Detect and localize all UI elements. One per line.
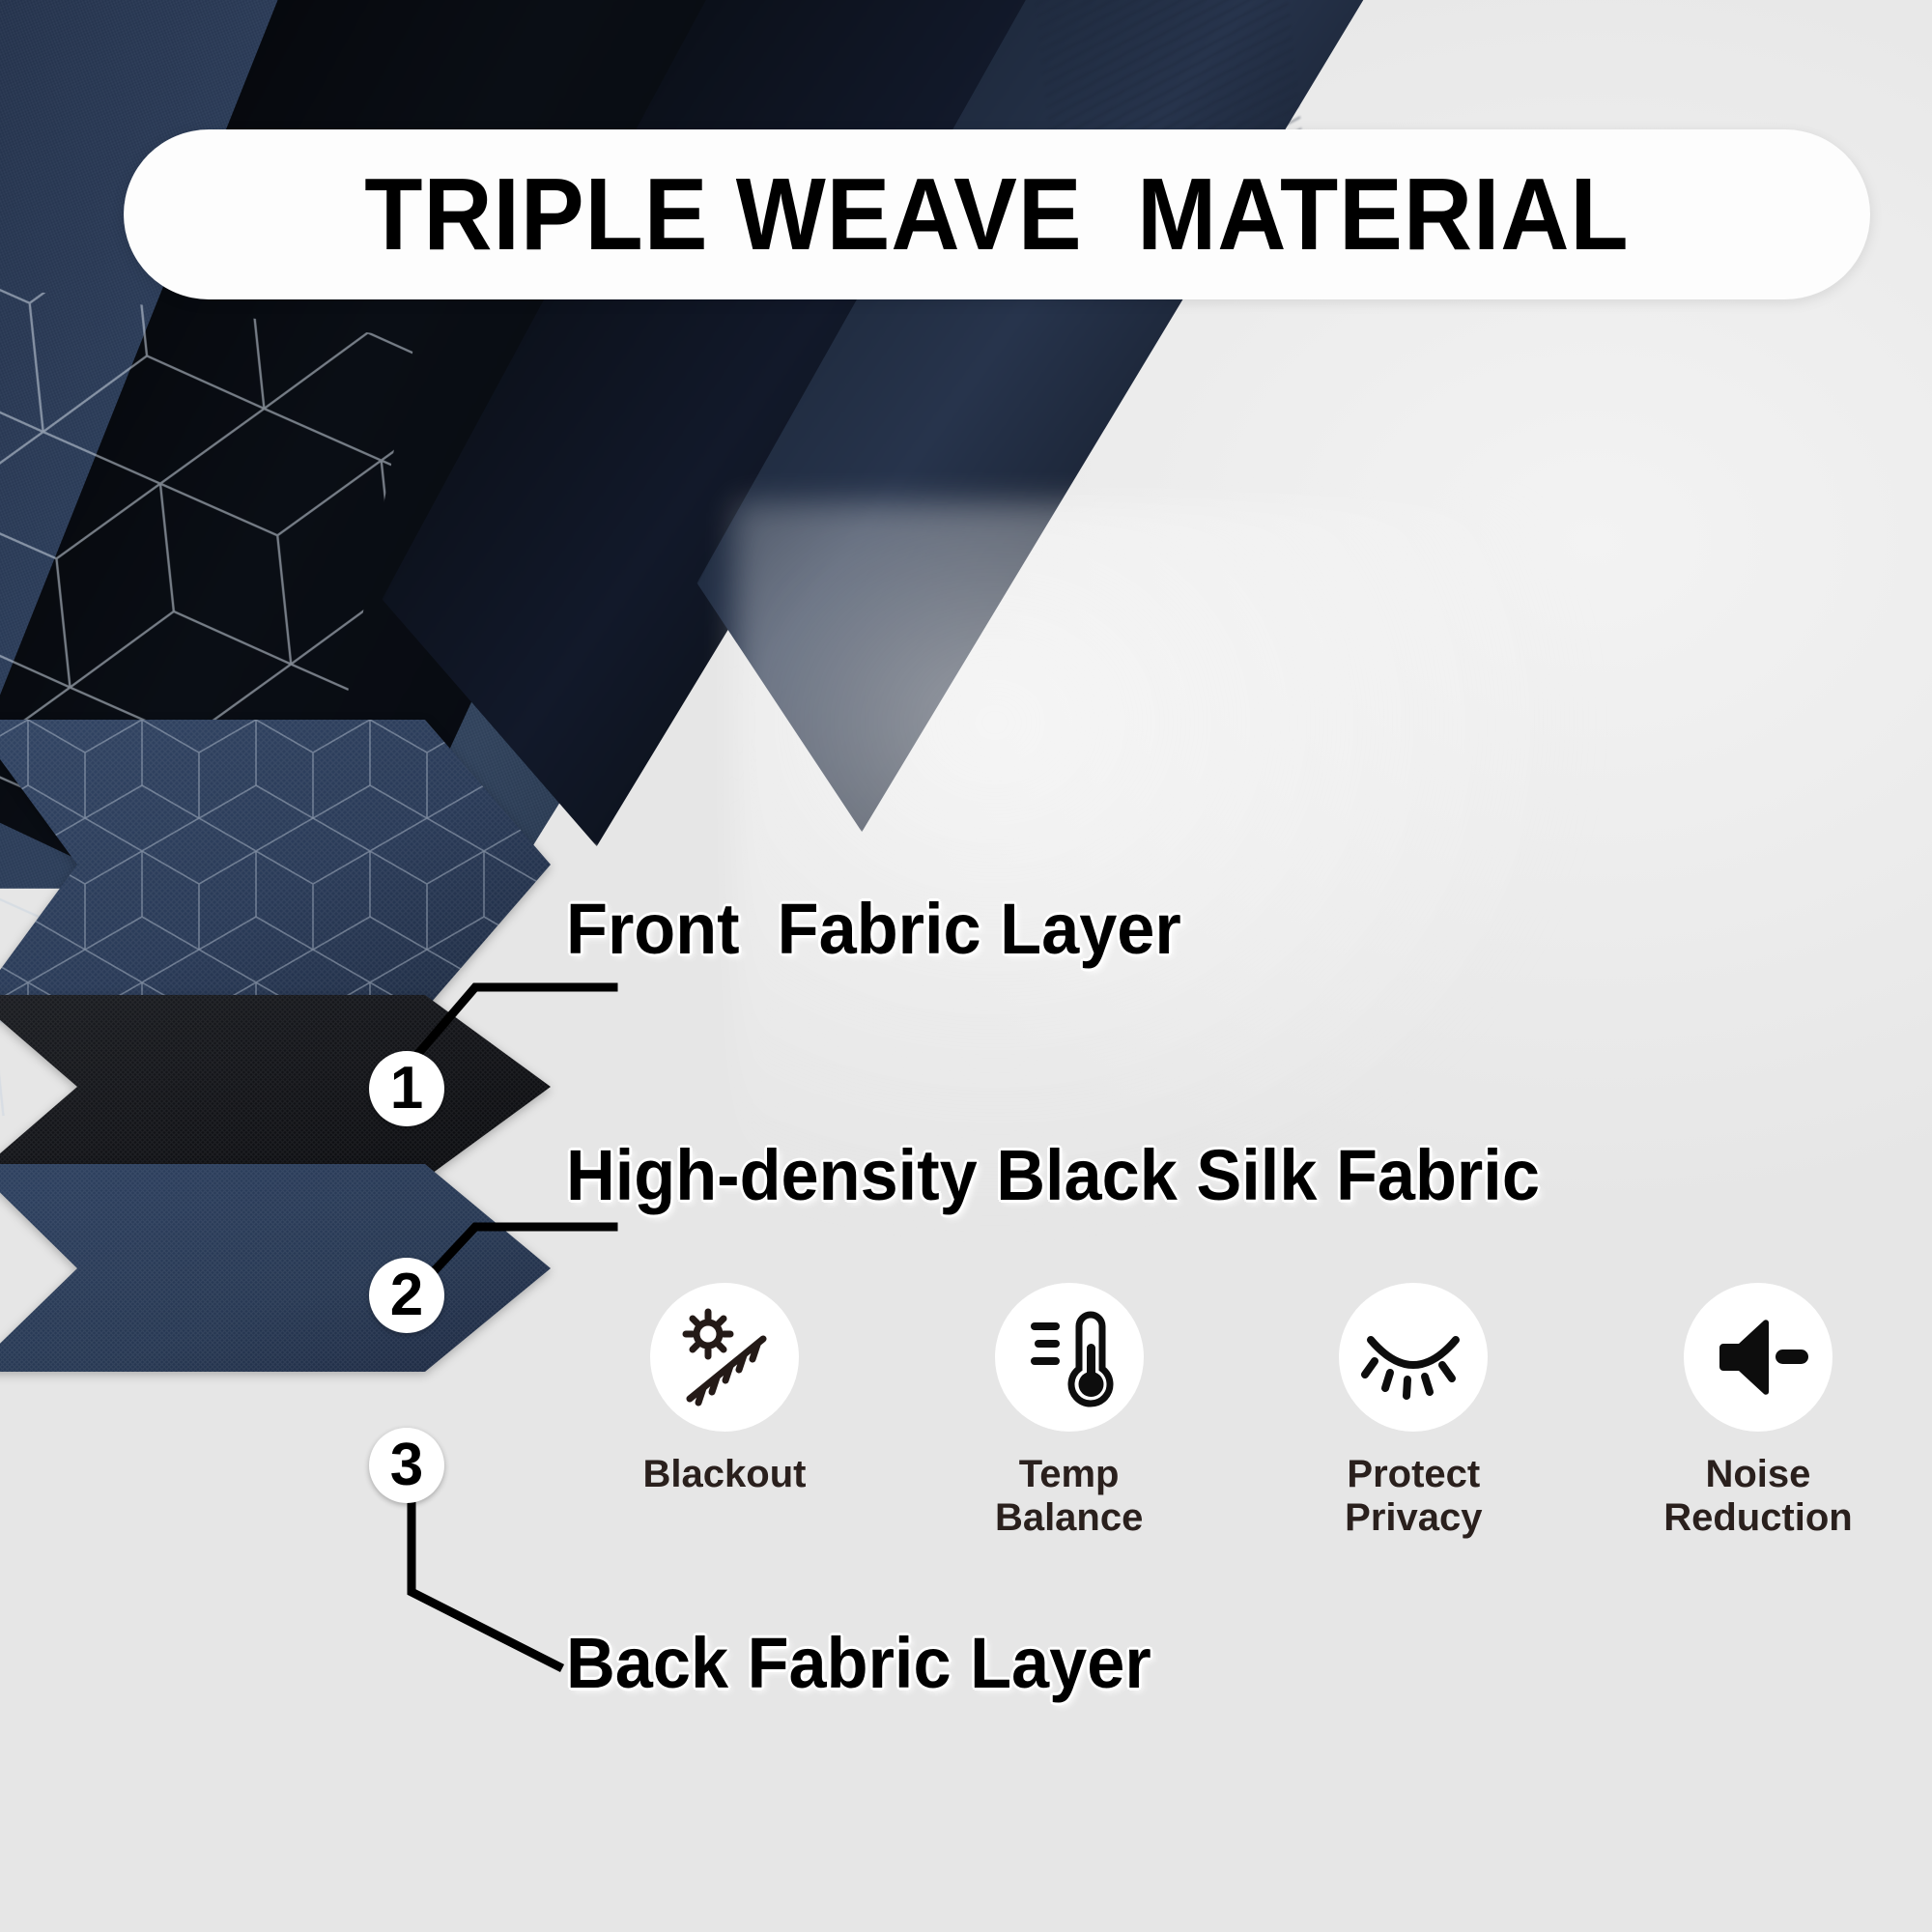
- layer-badge-3-number: 3: [390, 1435, 423, 1495]
- feature-temp-balance-label: Temp Balance: [995, 1453, 1143, 1540]
- feature-noise-reduction-label: Noise Reduction: [1663, 1453, 1853, 1540]
- layer-label-front-fabric: Front Fabric Layer: [566, 894, 1181, 965]
- feature-protect-privacy-label: Protect Privacy: [1345, 1453, 1482, 1540]
- sun-blocked-icon: [650, 1283, 799, 1432]
- fabric-ply-1-front: [0, 720, 570, 1009]
- layer-label-back-fabric: Back Fabric Layer: [566, 1628, 1151, 1699]
- feature-blackout: Blackout: [580, 1283, 869, 1496]
- closed-eye-icon: [1339, 1283, 1488, 1432]
- feature-protect-privacy: Protect Privacy: [1268, 1283, 1558, 1540]
- fabric-ply-3-back: [0, 1164, 570, 1372]
- feature-list: Blackout Temp Bal: [580, 1283, 1903, 1540]
- speaker-minus-icon: [1684, 1283, 1833, 1432]
- layer-badge-1-number: 1: [390, 1059, 423, 1119]
- layer-label-black-silk: High-density Black Silk Fabric: [566, 1140, 1540, 1211]
- page-title: TRIPLE WEAVE MATERIAL: [364, 163, 1629, 266]
- feature-noise-reduction: Noise Reduction: [1613, 1283, 1903, 1540]
- feature-blackout-label: Blackout: [643, 1453, 807, 1496]
- layer-badge-2-number: 2: [390, 1265, 423, 1325]
- layer-badge-3: 3: [369, 1428, 444, 1503]
- infographic-canvas: TRIPLE WEAVE MATERIAL: [0, 0, 1932, 1932]
- layer-badge-1: 1: [369, 1051, 444, 1126]
- fabric-ply-2-black-silk: [0, 995, 570, 1179]
- layer-badge-2: 2: [369, 1258, 444, 1333]
- photo-highlight-sheen: [734, 502, 1604, 1236]
- thermometer-icon: [995, 1283, 1144, 1432]
- feature-temp-balance: Temp Balance: [924, 1283, 1214, 1540]
- headline-pill: TRIPLE WEAVE MATERIAL: [124, 129, 1870, 299]
